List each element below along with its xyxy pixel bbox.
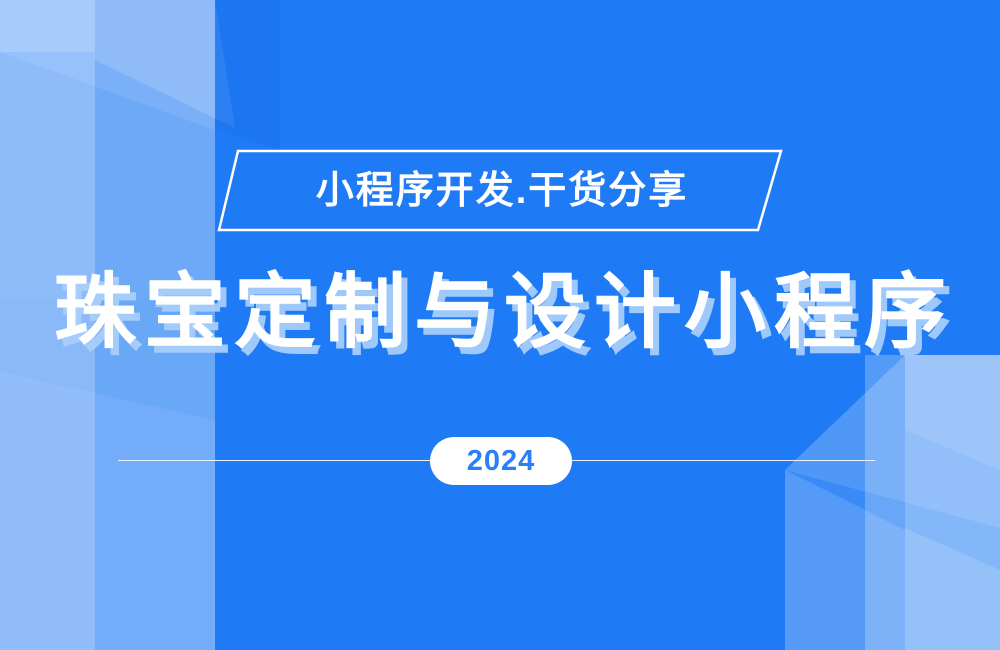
subtitle-text: 小程序开发.干货分享 bbox=[0, 148, 1000, 234]
promo-banner: 小程序开发.干货分享 珠宝定制与设计小程序 2024 bbox=[0, 0, 1000, 650]
right-band-outer bbox=[905, 355, 1000, 650]
page-title: 珠宝定制与设计小程序 bbox=[0, 263, 1000, 363]
left-top-highlight bbox=[0, 0, 95, 52]
subtitle-banner: 小程序开发.干货分享 bbox=[0, 148, 1000, 234]
year-badge: 2024 bbox=[430, 437, 572, 485]
right-bottom-highlight bbox=[905, 528, 1000, 650]
left-wedge-bottom bbox=[0, 372, 215, 650]
left-accent-edge bbox=[215, 0, 280, 150]
right-band-inner bbox=[865, 355, 905, 650]
year-row: 2024 bbox=[0, 437, 1000, 485]
right-wedge-mid bbox=[785, 470, 905, 650]
divider-line-right bbox=[566, 460, 875, 461]
divider-line-left bbox=[118, 460, 436, 461]
right-wedge-lower bbox=[785, 470, 1000, 650]
left-arrow-head-upper bbox=[95, 0, 235, 128]
left-chevron-upper bbox=[0, 0, 215, 130]
